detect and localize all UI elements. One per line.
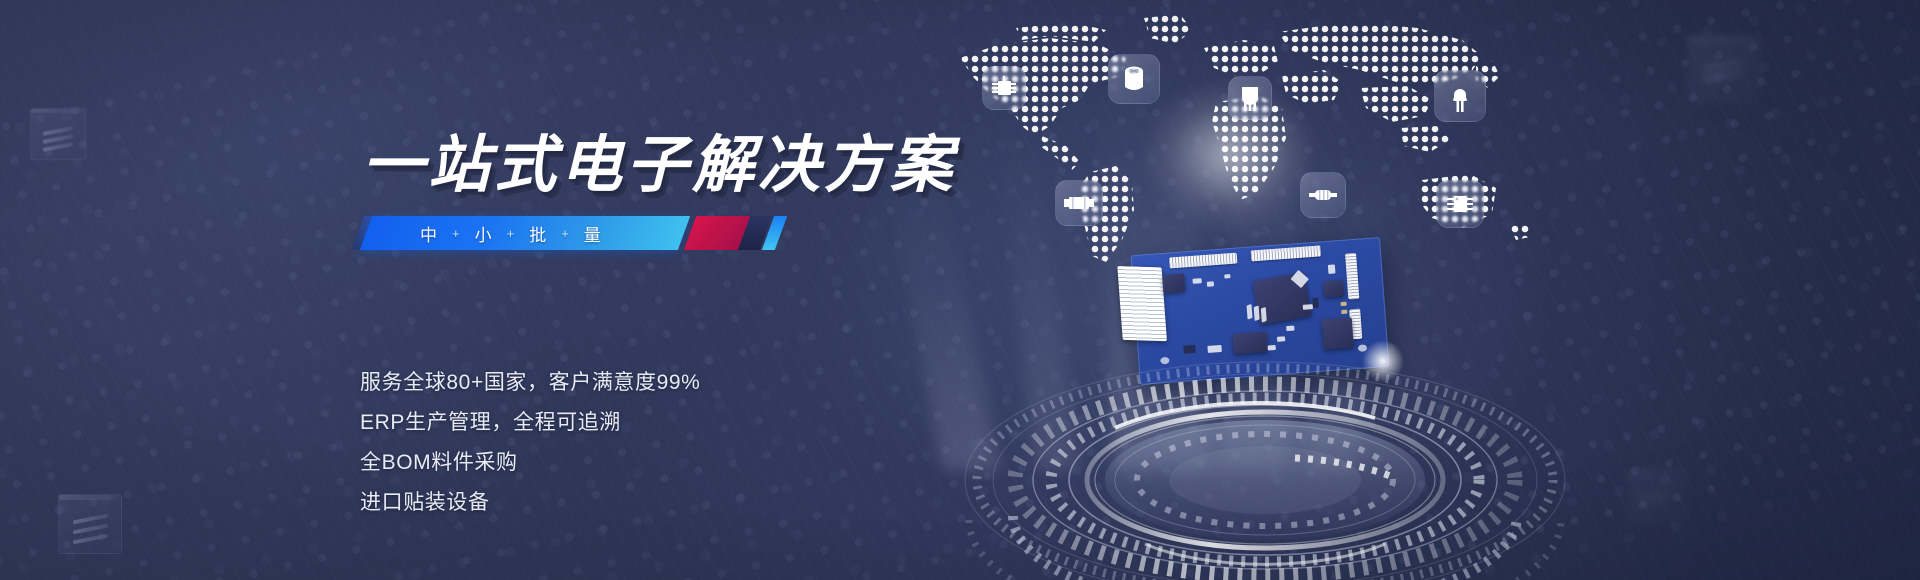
hero-banner: 一站式电子解决方案 中 + 小 + 批 + 量 服务全球80+国家，客户满意度9… [0,0,1920,580]
feature-item: 服务全球80+国家，客户满意度99% [360,372,700,393]
banner-content: 一站式电子解决方案 中 + 小 + 批 + 量 服务全球80+国家，客户满意度9… [0,0,900,580]
feature-list: 服务全球80+国家，客户满意度99% ERP生产管理，全程可追溯 全BOM料件采… [360,372,700,532]
page-title: 一站式电子解决方案 [362,114,956,204]
feature-item: 全BOM料件采购 [360,452,700,473]
ribbon-item-2: 小 [475,221,493,246]
ribbon-separator-1: + [452,226,461,241]
ribbon-badge: 中 + 小 + 批 + 量 [358,216,783,250]
ribbon-separator-2: + [507,226,516,241]
ribbon-item-3: 批 [529,221,547,246]
ribbon-separator-3: + [561,226,570,241]
feature-item: 进口贴装设备 [360,492,700,513]
ribbon-label-group: 中 + 小 + 批 + 量 [420,216,602,250]
ribbon-item-4: 量 [584,221,602,246]
feature-item: ERP生产管理，全程可追溯 [360,412,700,433]
ribbon-item-1: 中 [420,221,438,246]
